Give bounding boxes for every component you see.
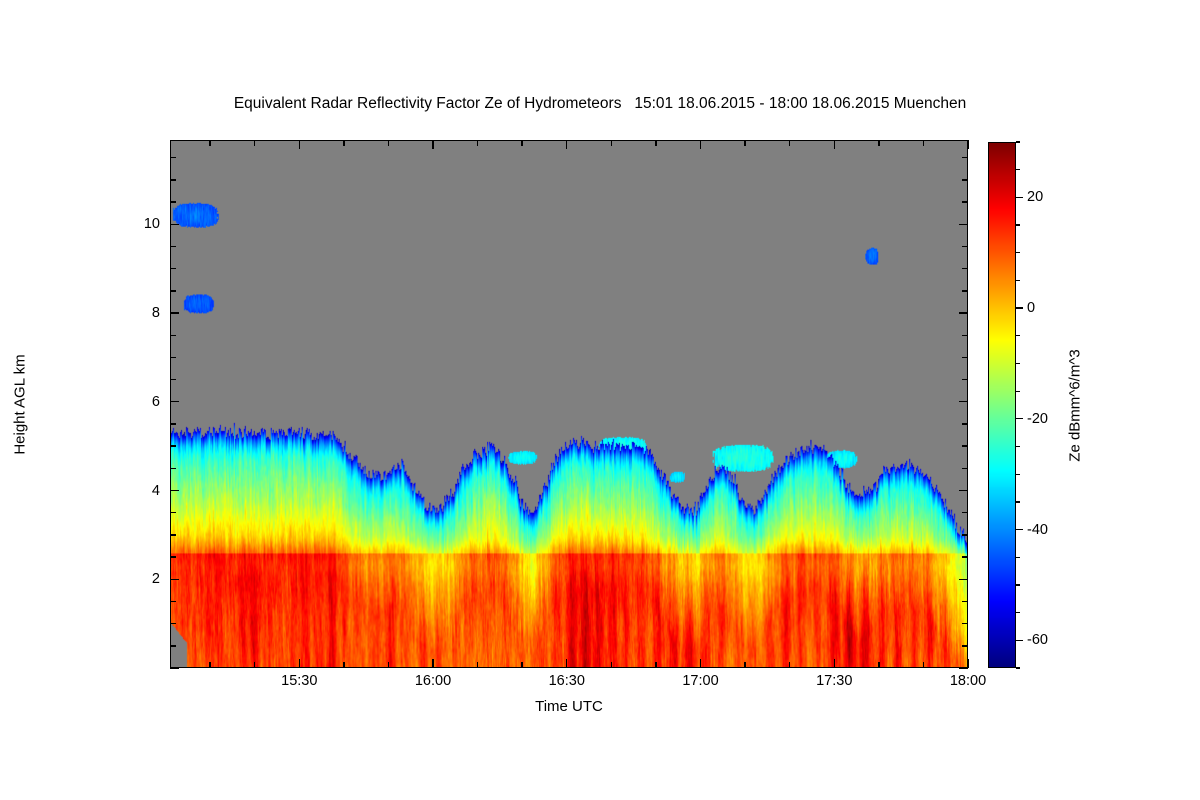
colorbar-tick [1016,335,1020,336]
x-axis-tick-top [611,140,612,146]
x-tick-label: 17:30 [816,673,852,689]
y-tick-label: 4 [122,483,160,499]
radar-heatmap-axes[interactable] [170,140,968,668]
colorbar-tick [1016,667,1020,668]
y-axis-tick-right [959,490,968,491]
colorbar-title: Ze dBmm^6/m^3 [1055,142,1095,668]
y-axis-tick [170,179,176,180]
y-axis-tick-right [962,445,968,446]
y-axis-tick-right [962,601,968,602]
colorbar-tick [1016,501,1020,502]
y-axis-tick-right [959,579,968,580]
x-axis-tick-top [700,140,701,149]
x-axis-tick-top [655,140,656,146]
colorbar-tick [1016,197,1023,198]
x-axis-tick-top [566,140,567,149]
x-axis-tick [700,659,701,668]
colorbar-tick [1016,418,1023,419]
y-axis-tick-right [959,312,968,313]
y-axis-tick [170,445,176,446]
colorbar-tick [1016,252,1020,253]
x-axis-tick [477,662,478,668]
y-tick-label: 6 [122,394,160,410]
y-axis-tick [170,157,176,158]
colorbar-tick [1016,584,1020,585]
x-axis-tick-top [744,140,745,146]
colorbar-tick-label: -60 [1027,632,1048,648]
colorbar-tick [1016,391,1020,392]
figure-canvas: Equivalent Radar Reflectivity Factor Ze … [0,0,1200,800]
x-tick-label: 18:00 [950,673,986,689]
colorbar-tick-label: -20 [1027,411,1048,427]
x-axis-tick-top [388,140,389,146]
colorbar-tick [1016,224,1020,225]
y-axis-tick [170,357,176,358]
x-axis-tick-top [254,140,255,146]
x-axis-tick-top [521,140,522,146]
y-axis-tick-right [962,357,968,358]
colorbar-tick [1016,557,1020,558]
y-axis-tick-right [959,401,968,402]
y-axis-tick [170,667,179,668]
x-axis-tick-top [923,140,924,146]
x-axis-tick-top [789,140,790,146]
x-axis-tick [299,659,300,668]
y-axis-tick [170,556,176,557]
y-tick-label: 2 [122,571,160,587]
x-axis-tick-top [343,140,344,146]
y-axis-tick-right [962,623,968,624]
y-axis-tick [170,579,179,580]
x-tick-label: 16:00 [415,673,451,689]
y-axis-tick [170,379,176,380]
x-axis-tick [566,659,567,668]
colorbar-tick [1016,363,1020,364]
y-tick-label: 10 [122,216,160,232]
y-axis-tick-right [959,667,968,668]
y-axis-tick [170,268,176,269]
colorbar-tick [1016,474,1020,475]
x-axis-tick [388,662,389,668]
y-axis-tick [170,512,176,513]
plot-title: Equivalent Radar Reflectivity Factor Ze … [0,95,1200,113]
colorbar-gradient [989,143,1015,667]
y-axis-tick [170,601,176,602]
colorbar-tick [1016,529,1023,530]
y-axis-tick [170,423,176,424]
x-axis-tick-top [209,140,210,146]
y-axis-tick-right [962,534,968,535]
x-axis-tick-top [834,140,835,149]
colorbar-tick [1016,307,1023,308]
x-axis-tick [878,662,879,668]
x-tick-label: 17:00 [682,673,718,689]
x-axis-tick [521,662,522,668]
y-axis-tick-right [962,379,968,380]
x-axis-tick-top [432,140,433,149]
x-axis-tick [432,659,433,668]
colorbar-tick-label: -40 [1027,522,1048,538]
y-axis-tick-right [962,556,968,557]
colorbar[interactable] [988,142,1016,668]
y-axis-tick-right [959,224,968,225]
y-axis-tick [170,312,179,313]
x-tick-label: 15:30 [281,673,317,689]
y-axis-tick-right [962,157,968,158]
colorbar-tick [1016,141,1020,142]
y-axis-tick [170,645,176,646]
y-axis-tick-right [962,179,968,180]
x-axis-tick [209,662,210,668]
y-axis-tick [170,623,176,624]
y-axis-tick [170,468,176,469]
y-axis-tick-right [962,268,968,269]
colorbar-tick-label: 20 [1027,189,1043,205]
y-axis-tick-right [962,645,968,646]
x-axis-tick-top [477,140,478,146]
x-axis-tick [343,662,344,668]
y-axis-tick-right [962,290,968,291]
y-axis-tick [170,201,176,202]
x-axis-tick-top [299,140,300,149]
y-axis-tick [170,401,179,402]
y-axis-tick [170,246,176,247]
y-axis-tick-right [962,246,968,247]
y-tick-label: 8 [122,305,160,321]
y-axis-tick [170,290,176,291]
colorbar-tick [1016,640,1023,641]
x-axis-tick-top [967,140,968,149]
y-axis-title: Height AGL km [0,140,40,668]
x-tick-label: 16:30 [549,673,585,689]
y-axis-tick-right [962,468,968,469]
colorbar-tick [1016,446,1020,447]
colorbar-tick-label: 0 [1027,300,1035,316]
y-axis-tick-right [962,423,968,424]
y-axis-tick [170,534,176,535]
y-axis-tick-right [962,335,968,336]
x-axis-title: Time UTC [170,698,968,715]
colorbar-tick [1016,169,1020,170]
x-axis-tick [744,662,745,668]
x-axis-tick [789,662,790,668]
x-axis-tick [834,659,835,668]
x-axis-tick-top [878,140,879,146]
y-axis-tick [170,224,179,225]
reflectivity-heatmap [171,141,967,667]
x-axis-tick [655,662,656,668]
colorbar-tick [1016,612,1020,613]
y-axis-tick-right [962,201,968,202]
y-axis-title-text: Height AGL km [12,354,29,454]
y-axis-tick [170,490,179,491]
x-axis-tick [254,662,255,668]
y-axis-tick [170,335,176,336]
x-axis-tick [923,662,924,668]
y-axis-tick-right [962,512,968,513]
x-axis-tick [611,662,612,668]
colorbar-tick [1016,280,1020,281]
colorbar-title-text: Ze dBmm^6/m^3 [1067,349,1084,461]
